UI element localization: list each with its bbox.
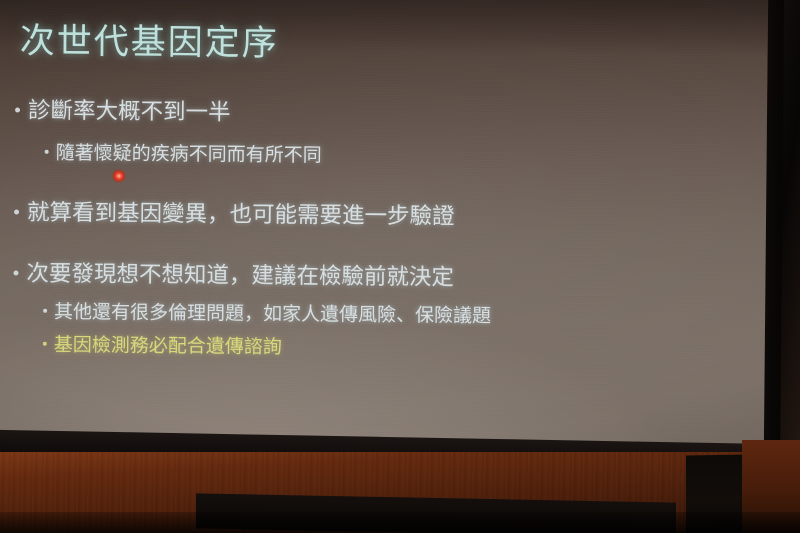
presentation-photo: 次世代基因定序 診斷率大概不到一半 隨著懷疑的疾病不同而有所不同 [0, 0, 800, 533]
bullet-text: 其他還有很多倫理問題，如家人遺傳風險、保險議題 [54, 297, 491, 328]
foreground-shadow [0, 512, 800, 533]
bullet-marker-icon [15, 107, 20, 112]
bullet-marker-icon [43, 309, 47, 313]
bullet-text: 就算看到基因變異，也可能需要進一步驗證 [27, 195, 455, 231]
bullet-marker-icon [43, 342, 47, 346]
slide-body: 診斷率大概不到一半 隨著懷疑的疾病不同而有所不同 就算看到基因變異，也可能需要進… [9, 92, 752, 363]
bullet-text: 基因檢測務必配合遺傳諮詢 [54, 330, 282, 359]
bullet-text: 診斷率大概不到一半 [28, 93, 231, 127]
bullet-text: 次要發現想不想知道，建議在檢驗前就決定 [26, 256, 454, 292]
slide-title: 次世代基因定序 [19, 13, 278, 66]
bullet-text: 隨著懷疑的疾病不同而有所不同 [56, 138, 322, 168]
bullet-marker-icon [14, 209, 19, 214]
bullet-marker-icon [45, 150, 49, 154]
bullet-marker-icon [13, 270, 18, 275]
slide: 次世代基因定序 診斷率大概不到一半 隨著懷疑的疾病不同而有所不同 [0, 0, 768, 454]
projection-screen-surface: 次世代基因定序 診斷率大概不到一半 隨著懷疑的疾病不同而有所不同 [0, 0, 768, 454]
bullet-level2-highlight: 基因檢測務必配合遺傳諮詢 [43, 330, 749, 364]
